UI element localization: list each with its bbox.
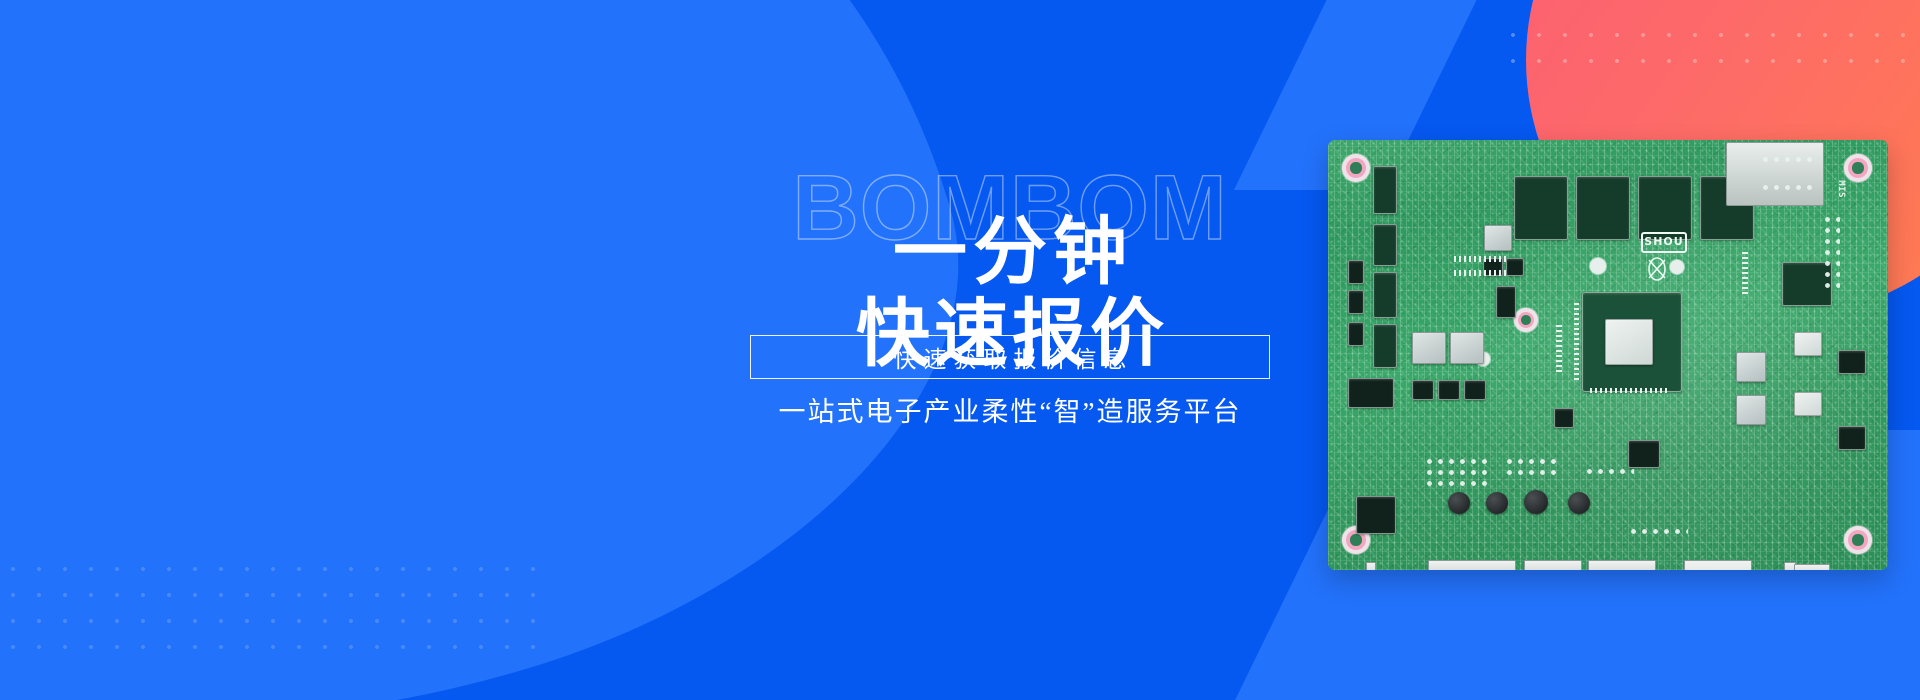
dot-grid-bottom-left: [0, 556, 540, 660]
pcb-board-image: SHOU MIS: [1328, 140, 1888, 570]
mounting-hole-icon: [1844, 526, 1872, 554]
io-connector: [1794, 564, 1830, 570]
inductor: [1412, 332, 1446, 364]
slot-pads: [1760, 182, 1816, 194]
mounting-hole-icon: [1844, 154, 1872, 182]
memory-chip: [1638, 176, 1692, 240]
sim-card-slot: [1726, 142, 1824, 206]
io-connector: [1428, 560, 1516, 570]
pcb-substrate: SHOU MIS: [1328, 140, 1888, 570]
pad-array: [1504, 456, 1560, 480]
header-pins: [1556, 322, 1562, 372]
ic-chip: [1412, 380, 1434, 400]
slot-pads: [1760, 154, 1816, 166]
cta-box-label: 快速获取报价信息: [887, 340, 1134, 374]
silkscreen-brand-label: SHOU: [1641, 232, 1687, 253]
ic-chip: [1373, 272, 1397, 318]
qfp-chip: [1356, 496, 1396, 534]
ic-chip: [1838, 426, 1866, 450]
ic-chip: [1348, 260, 1364, 284]
ic-chip: [1496, 286, 1516, 318]
ic-chip: [1506, 258, 1524, 276]
pad-array: [1822, 214, 1840, 288]
capacitor: [1524, 490, 1548, 514]
cta-box[interactable]: 快速获取报价信息: [750, 335, 1270, 379]
tagline: 一站式电子产业柔性“智”造服务平台: [640, 390, 1380, 429]
capacitor: [1448, 492, 1470, 514]
headline-line-1: 一分钟: [690, 212, 1330, 292]
pad-array: [1424, 456, 1488, 490]
pad-array: [1628, 526, 1688, 538]
ic-chip: [1348, 290, 1364, 314]
header-pins: [1742, 250, 1748, 294]
capacitor: [1486, 492, 1508, 514]
inductor: [1736, 352, 1766, 382]
inductor: [1450, 332, 1484, 364]
header-pins: [1454, 256, 1508, 262]
ic-chip: [1838, 350, 1866, 374]
test-pad: [1590, 258, 1606, 274]
inductor: [1484, 225, 1512, 251]
memory-chip: [1514, 176, 1568, 240]
mounting-hole-icon: [1342, 154, 1370, 182]
ic-chip: [1373, 324, 1397, 368]
inductor: [1736, 395, 1766, 425]
processor-chip: [1582, 292, 1682, 392]
chip-pins: [1574, 300, 1579, 380]
rohs-icon: [1646, 256, 1668, 282]
ic-chip: [1438, 380, 1460, 400]
inductor: [1794, 392, 1822, 416]
ic-chip: [1373, 224, 1397, 266]
io-connector: [1366, 562, 1376, 570]
ic-chip: [1348, 322, 1364, 346]
ic-chip: [1464, 380, 1486, 400]
promo-banner: SHOU MIS: [0, 0, 1920, 700]
dot-grid-top-right: [1500, 22, 1920, 74]
inductor: [1794, 332, 1822, 356]
sim-silk-label: MIS: [1836, 180, 1846, 198]
chip-pins: [1590, 388, 1670, 393]
io-connector: [1524, 560, 1582, 570]
test-pad: [1670, 260, 1684, 274]
ic-chip: [1373, 166, 1397, 214]
ic-chip: [1628, 440, 1660, 468]
io-connector: [1588, 560, 1656, 570]
ic-chip: [1554, 408, 1574, 428]
io-connector: [1684, 560, 1752, 570]
pad-array: [1584, 466, 1634, 480]
memory-chip: [1576, 176, 1630, 240]
header-pins: [1454, 270, 1508, 276]
mounting-hole-icon: [1514, 308, 1538, 332]
capacitor: [1568, 492, 1590, 514]
